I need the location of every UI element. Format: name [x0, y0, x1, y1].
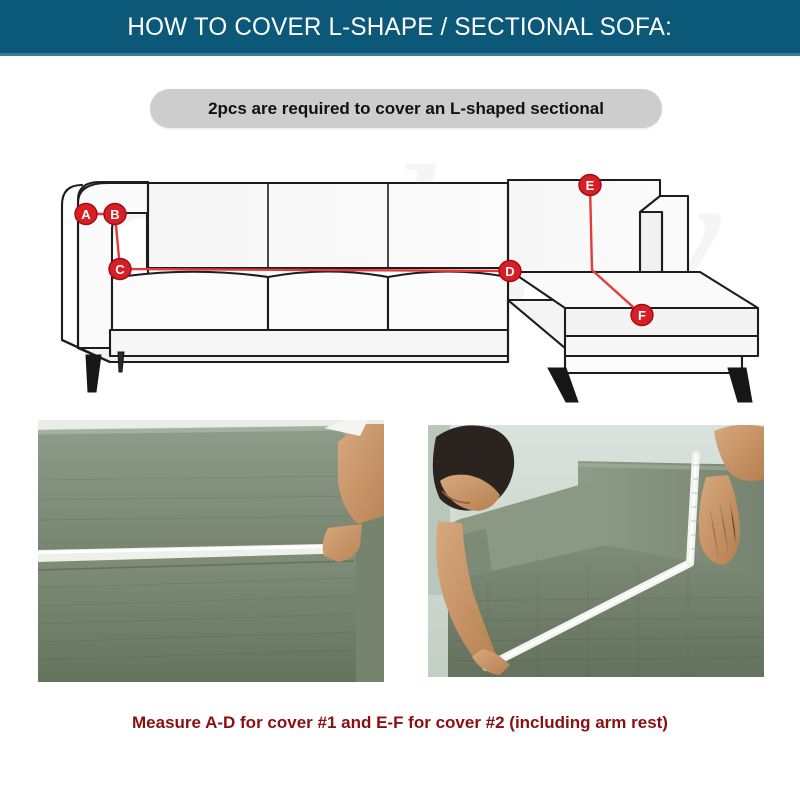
sofa-measurement-diagram: A B C D E F	[0, 140, 800, 405]
page-title: HOW TO COVER L-SHAPE / SECTIONAL SOFA:	[128, 13, 673, 42]
marker-e: E	[579, 175, 601, 196]
marker-b: B	[104, 204, 126, 225]
marker-e-label: E	[586, 178, 595, 193]
requirement-badge-label: 2pcs are required to cover an L-shaped s…	[208, 99, 604, 119]
infographic-page: HOW TO COVER L-SHAPE / SECTIONAL SOFA: 2…	[0, 0, 800, 800]
sofa-outline	[62, 180, 758, 373]
measure-line-c-d	[120, 269, 510, 271]
footer-instruction-label: Measure A-D for cover #1 and E-F for cov…	[132, 713, 668, 733]
photo-close-up-seat-seam	[38, 420, 384, 682]
requirement-badge: 2pcs are required to cover an L-shaped s…	[150, 89, 662, 128]
leg-chaise-right	[728, 368, 752, 402]
marker-b-label: B	[110, 207, 119, 222]
marker-a: A	[75, 204, 97, 225]
header-banner: HOW TO COVER L-SHAPE / SECTIONAL SOFA:	[0, 0, 800, 55]
leg-front-left	[86, 355, 101, 392]
marker-c: C	[109, 259, 131, 280]
footer-instruction: Measure A-D for cover #1 and E-F for cov…	[0, 703, 800, 743]
marker-a-label: A	[81, 207, 91, 222]
marker-c-label: C	[115, 262, 125, 277]
sofa-seat-cushion	[38, 553, 356, 682]
sofa-back-rest	[38, 426, 356, 560]
marker-f-label: F	[638, 308, 646, 323]
marker-f: F	[631, 305, 653, 326]
photo-man-measuring-sofa	[428, 425, 764, 677]
marker-d: D	[499, 261, 521, 282]
header-divider	[0, 53, 800, 56]
marker-d-label: D	[505, 264, 514, 279]
leg-rear-left	[118, 352, 124, 372]
